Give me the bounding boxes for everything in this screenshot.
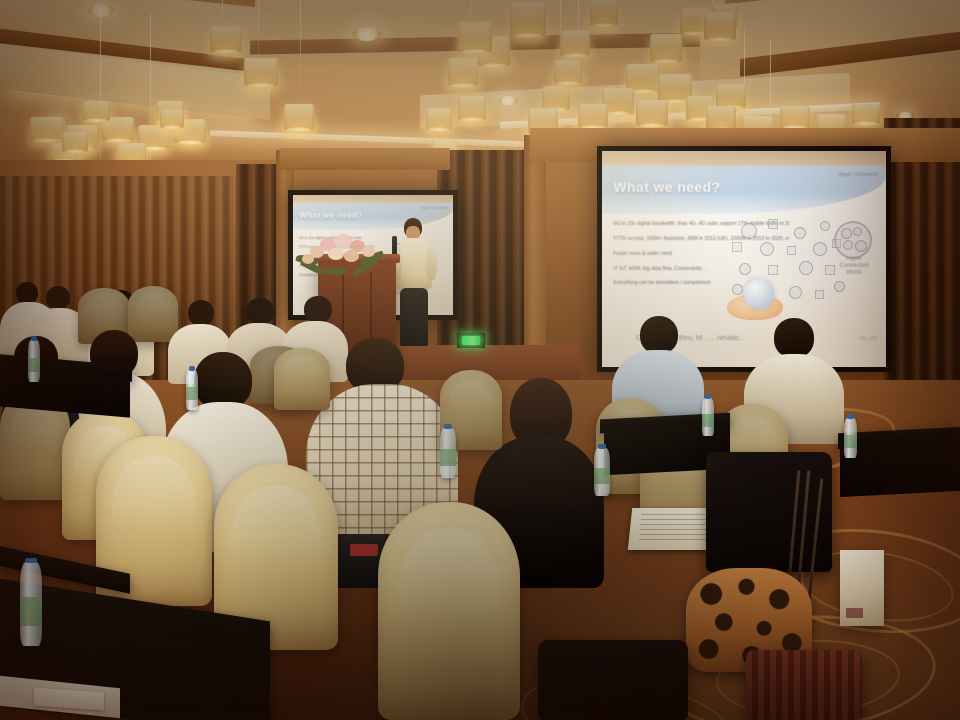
wall-column-2 xyxy=(524,135,546,365)
wall-upper-band-left xyxy=(280,148,450,170)
water-bottle xyxy=(28,340,40,382)
main-slide-top-logo: Hyper Connected xyxy=(839,172,878,178)
ceiling-downlight xyxy=(88,4,114,17)
conference-room-photo: What we need? Hyper Connected 5G to 10x … xyxy=(0,0,960,720)
water-bottle xyxy=(844,418,857,458)
water-bottle xyxy=(702,398,714,436)
phone-in-pocket xyxy=(350,544,378,556)
floral-arrangement xyxy=(296,234,388,276)
secondary-slide-top-logo: Hyper Connected xyxy=(421,206,448,210)
chair xyxy=(274,348,330,410)
ceiling-downlight xyxy=(352,28,382,41)
wall-curtains-right xyxy=(884,118,960,418)
emergency-exit-sign xyxy=(457,333,485,348)
hyper-connected-world-logo xyxy=(834,221,872,259)
table-skirt xyxy=(840,437,960,497)
pendant-lamp xyxy=(160,110,184,128)
rolling-suitcase xyxy=(746,650,862,720)
pendant-lamp xyxy=(244,58,278,86)
pendant-lamp xyxy=(62,132,88,152)
water-bottle xyxy=(186,370,198,410)
water-bottle xyxy=(594,448,610,496)
bag-foreground xyxy=(538,640,688,720)
chair xyxy=(378,502,520,720)
hyper-connected-world-label: Hyper Connected World xyxy=(832,256,876,277)
pendant-lamp xyxy=(210,26,242,52)
secondary-slide-title: What we need? xyxy=(299,211,362,220)
water-bottle xyxy=(440,428,456,478)
pendant-lamp xyxy=(704,12,736,40)
pendant-lamp xyxy=(458,22,492,52)
main-slide-title: What we need? xyxy=(613,179,720,195)
main-slide-footer-right: 5G_v01 xyxy=(860,336,878,342)
presenter-arm-right xyxy=(426,246,437,280)
white-tote-bag xyxy=(840,550,884,626)
presenter xyxy=(390,218,440,348)
pendant-lamp xyxy=(284,104,314,130)
water-bottle xyxy=(20,562,42,646)
